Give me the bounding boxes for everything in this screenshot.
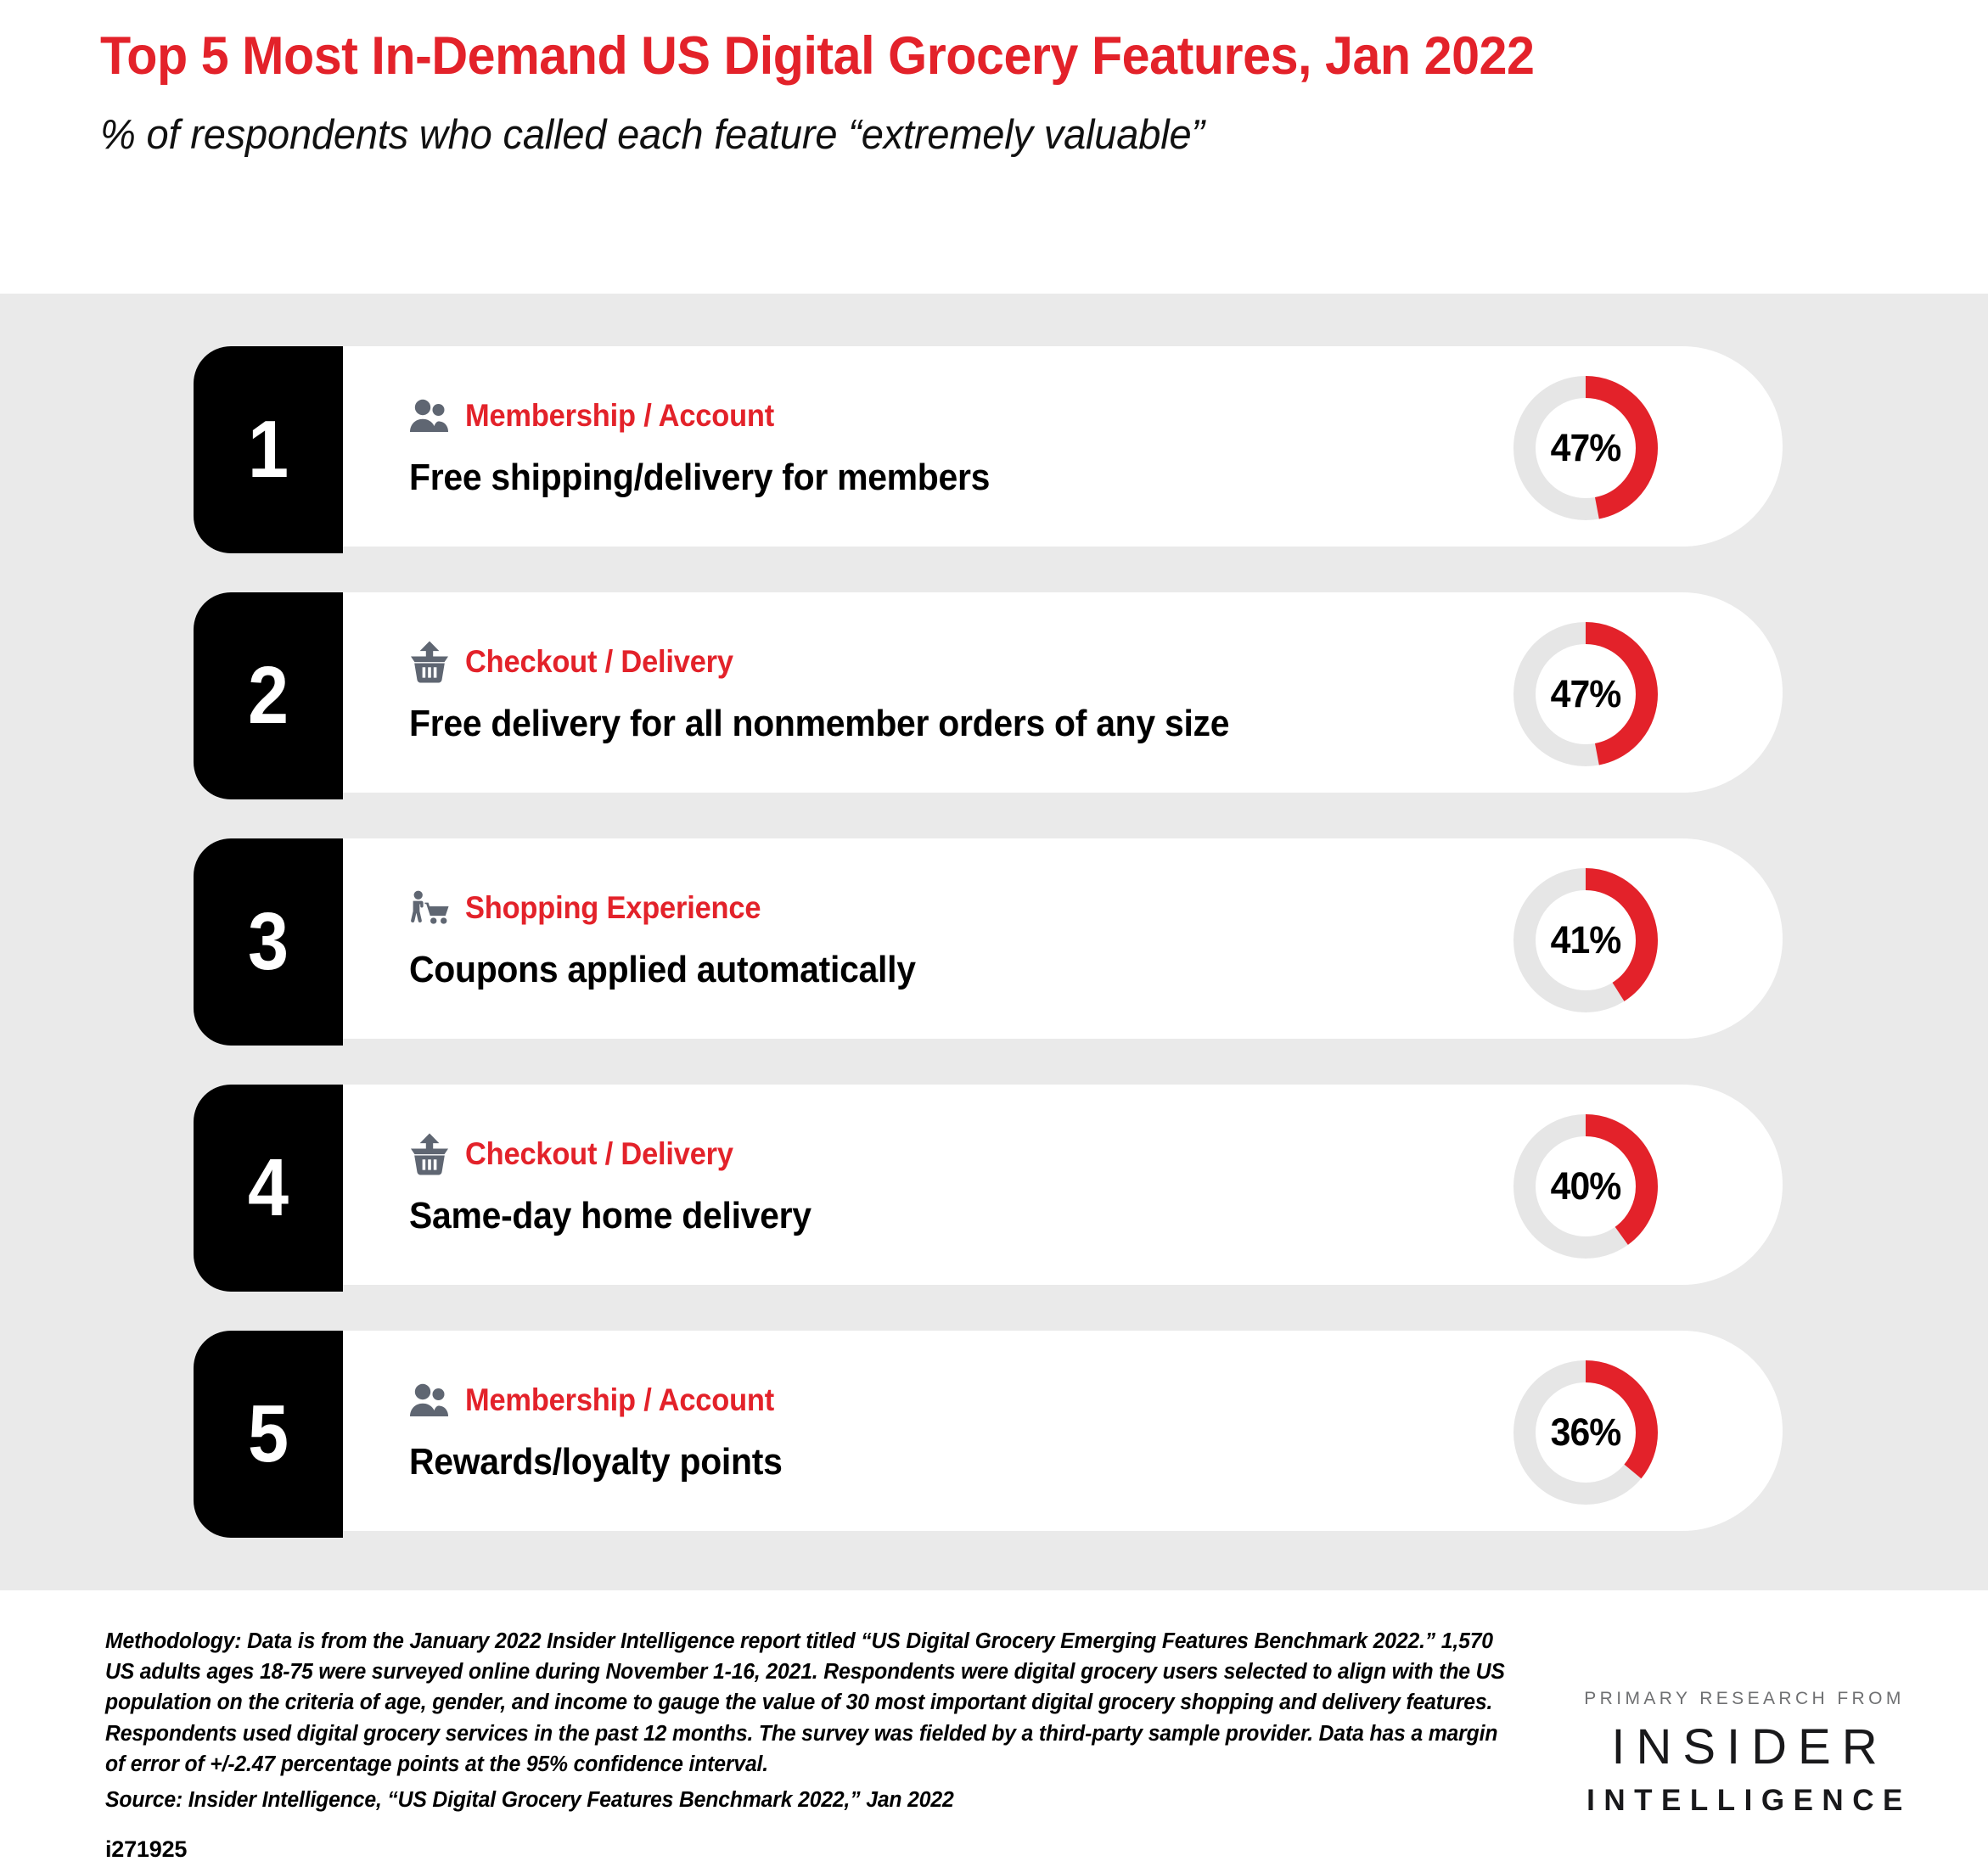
ranked-feature-list: 1Membership / AccountFree shipping/deliv… — [194, 346, 1784, 1534]
feature-row: 5Membership / AccountRewards/loyalty poi… — [194, 1331, 1784, 1534]
document-id: i271925 — [105, 1836, 187, 1863]
header: Top 5 Most In-Demand US Digital Grocery … — [0, 0, 1988, 268]
feature-content: Shopping ExperienceCoupons applied autom… — [409, 838, 954, 1039]
rank-badge: 1 — [194, 346, 343, 553]
feature-row: 2Checkout / DeliveryFree delivery for al… — [194, 592, 1784, 796]
percent-value: 47% — [1508, 613, 1663, 776]
percent-value: 36% — [1508, 1351, 1663, 1514]
category-label: Checkout / Delivery — [465, 1136, 733, 1172]
brand-kicker: PRIMARY RESEARCH FROM — [1545, 1689, 1944, 1709]
category-label: Checkout / Delivery — [465, 644, 733, 680]
shopper-cart-icon — [409, 888, 450, 928]
feature-row: 4Checkout / DeliverySame-day home delive… — [194, 1085, 1784, 1288]
feature-row: 1Membership / AccountFree shipping/deliv… — [194, 346, 1784, 550]
brand-name-insider: INSIDER — [1545, 1723, 1944, 1772]
feature-content: Membership / AccountFree shipping/delive… — [409, 346, 1034, 547]
people-icon — [409, 1380, 450, 1421]
percent-value: 40% — [1508, 1105, 1663, 1268]
category-line: Checkout / Delivery — [409, 640, 1291, 684]
category-line: Checkout / Delivery — [409, 1132, 841, 1176]
percent-donut: 41% — [1504, 859, 1667, 1022]
rank-badge: 5 — [194, 1331, 343, 1538]
rank-badge: 4 — [194, 1085, 343, 1292]
feature-label: Free delivery for all nonmember orders o… — [409, 703, 1229, 745]
feature-label: Free shipping/delivery for members — [409, 457, 990, 499]
feature-content: Membership / AccountRewards/loyalty poin… — [409, 1331, 811, 1531]
percent-donut: 36% — [1504, 1351, 1667, 1514]
brand-name-intelligence: INTELLIGENCE — [1545, 1786, 1944, 1815]
percent-donut: 47% — [1504, 613, 1667, 776]
methodology-text: Methodology: Data is from the January 20… — [105, 1629, 1505, 1776]
category-label: Membership / Account — [465, 1382, 774, 1418]
rank-number: 1 — [201, 409, 335, 491]
feature-content: Checkout / DeliverySame-day home deliver… — [409, 1085, 841, 1285]
chart-band: 1Membership / AccountFree shipping/deliv… — [0, 294, 1988, 1590]
rank-number: 2 — [201, 655, 335, 737]
category-label: Membership / Account — [465, 398, 774, 434]
methodology-note: Methodology: Data is from the January 20… — [105, 1626, 1505, 1815]
people-icon — [409, 395, 450, 436]
percent-donut: 40% — [1504, 1105, 1667, 1268]
rank-badge: 2 — [194, 592, 343, 799]
rank-number: 5 — [201, 1393, 335, 1475]
category-line: Membership / Account — [409, 1378, 811, 1422]
percent-value: 47% — [1508, 367, 1663, 530]
page-subtitle: % of respondents who called each feature… — [100, 111, 1912, 159]
percent-value: 41% — [1508, 859, 1663, 1022]
source-text: Source: Insider Intelligence, “US Digita… — [105, 1785, 1505, 1815]
feature-row: 3Shopping ExperienceCoupons applied auto… — [194, 838, 1784, 1042]
category-line: Shopping Experience — [409, 886, 954, 930]
feature-label: Coupons applied automatically — [409, 949, 916, 991]
category-label: Shopping Experience — [465, 890, 761, 926]
feature-content: Checkout / DeliveryFree delivery for all… — [409, 592, 1291, 793]
rank-badge: 3 — [194, 838, 343, 1046]
page-title: Top 5 Most In-Demand US Digital Grocery … — [100, 25, 1776, 87]
category-line: Membership / Account — [409, 394, 1034, 438]
feature-label: Same-day home delivery — [409, 1195, 811, 1237]
brand-logo: PRIMARY RESEARCH FROM INSIDER INTELLIGEN… — [1545, 1689, 1944, 1815]
basket-upload-icon — [409, 642, 450, 682]
basket-upload-icon — [409, 1134, 450, 1175]
rank-number: 4 — [201, 1147, 335, 1229]
percent-donut: 47% — [1504, 367, 1667, 530]
feature-label: Rewards/loyalty points — [409, 1441, 783, 1483]
rank-number: 3 — [201, 901, 335, 983]
